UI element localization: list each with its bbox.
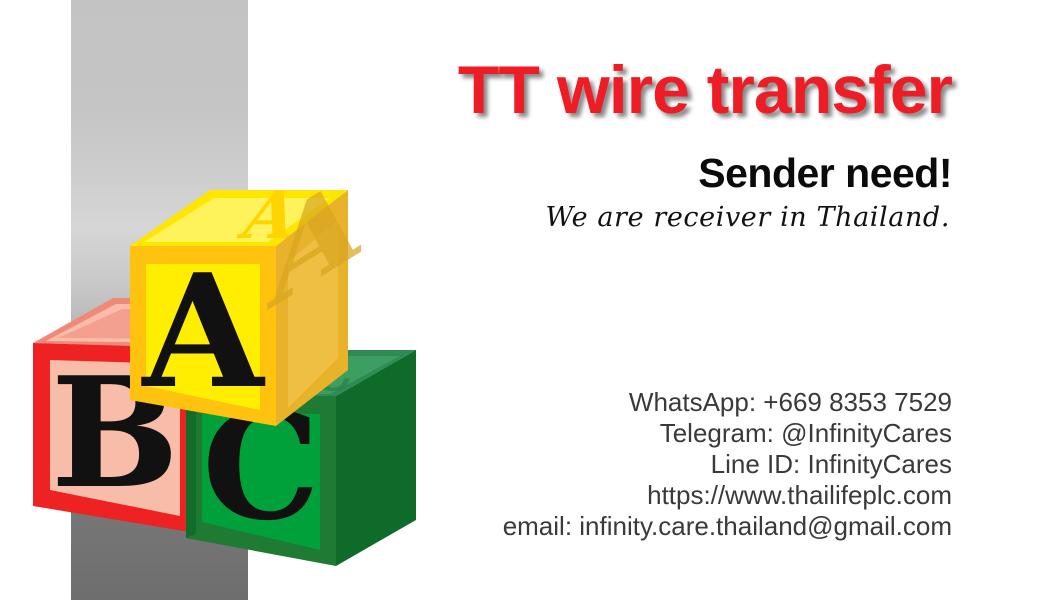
contact-email[interactable]: email: infinity.care.thailand@gmail.com: [260, 511, 952, 542]
text-column: TT wire transfer Sender need! We are rec…: [260, 0, 952, 600]
subtitle: Sender need!: [260, 152, 952, 195]
contact-whatsapp[interactable]: WhatsApp: +669 8353 7529: [260, 387, 952, 418]
svg-text:A: A: [140, 240, 265, 423]
contact-telegram[interactable]: Telegram: @InfinityCares: [260, 418, 952, 449]
poster-canvas: B B C C: [0, 0, 1063, 600]
page-title: TT wire transfer: [260, 56, 952, 124]
tagline: We are receiver in Thailand.: [258, 203, 950, 233]
contact-line-id[interactable]: Line ID: InfinityCares: [260, 449, 952, 480]
contact-website[interactable]: https://www.thailifeplc.com: [260, 480, 952, 511]
contact-block: WhatsApp: +669 8353 7529 Telegram: @Infi…: [260, 387, 952, 542]
